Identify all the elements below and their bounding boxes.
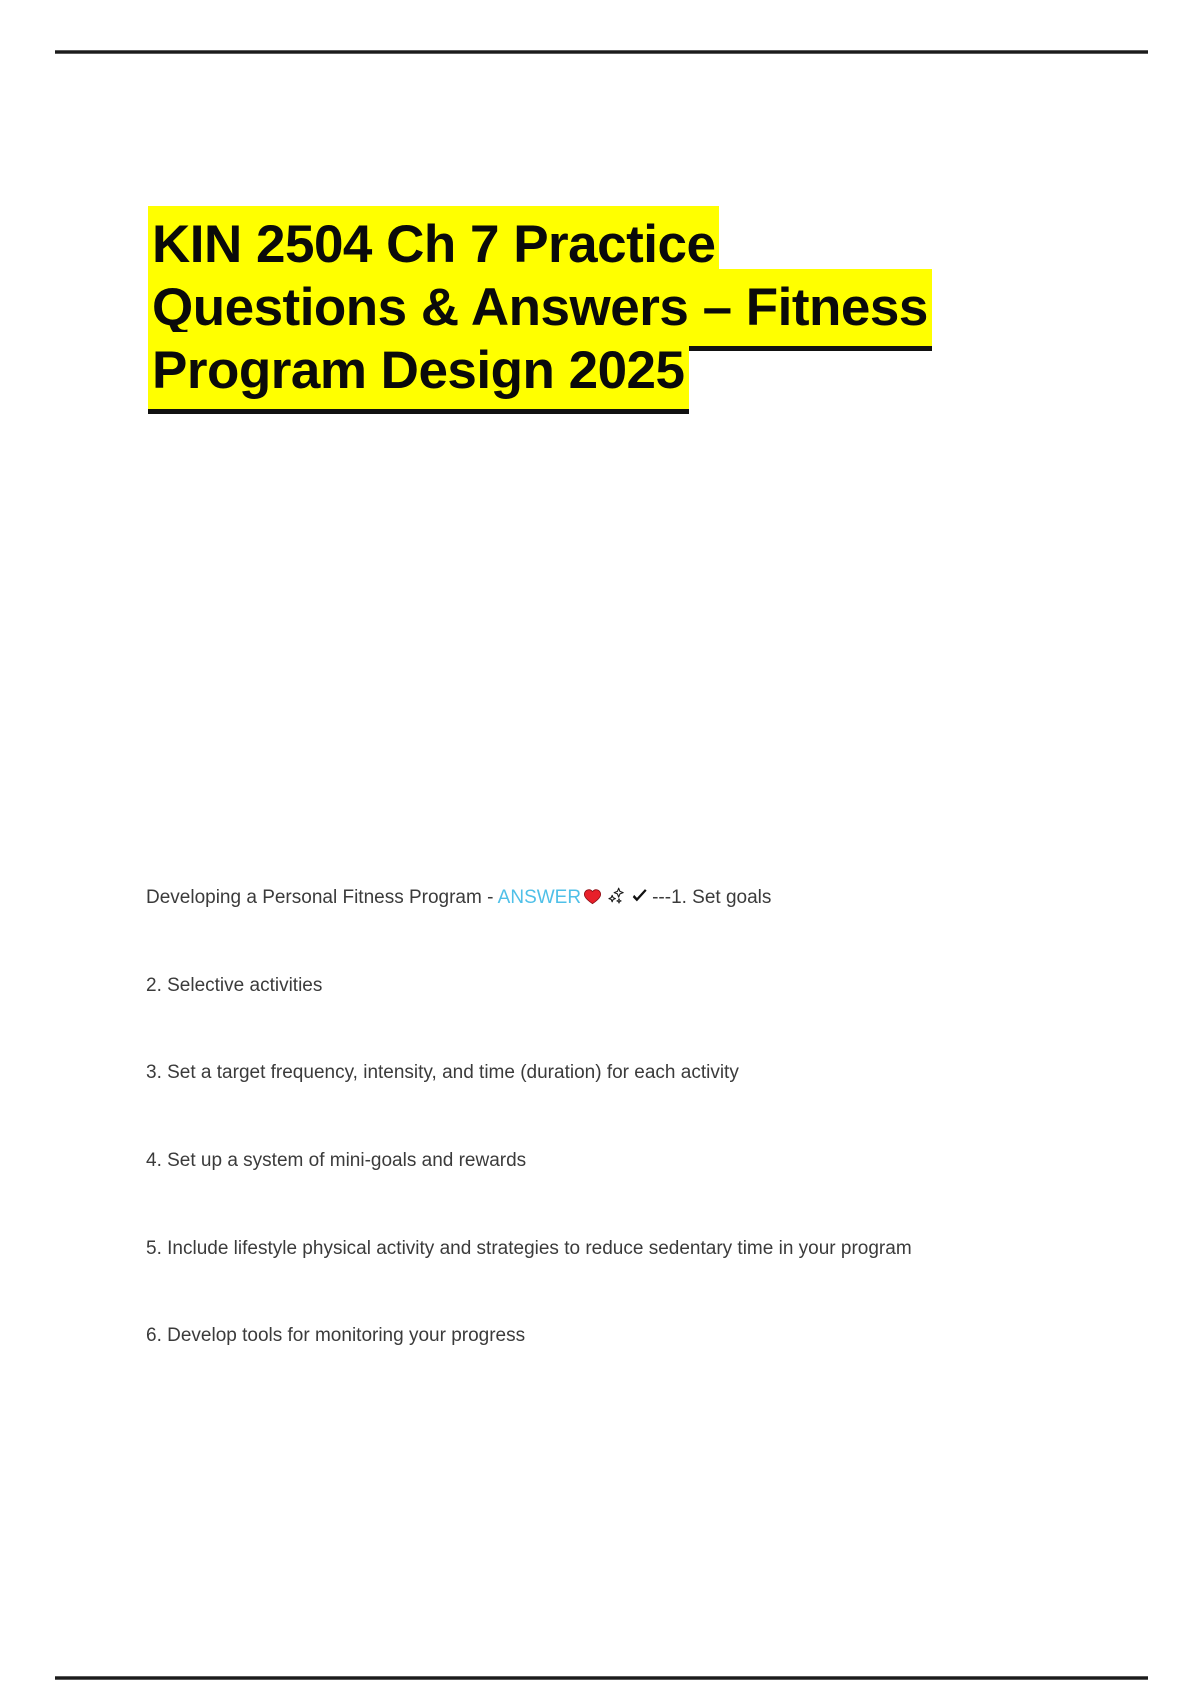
body-line-item-2: 2. Selective activities — [146, 974, 1106, 999]
page-top-rule — [55, 50, 1148, 54]
answer-first-item: 1. Set goals — [671, 887, 771, 908]
title-line-3-text: Program Design 2025 — [148, 332, 689, 414]
document-body: Developing a Personal Fitness Program - … — [146, 886, 1106, 1349]
answer-prompt-text: Developing a Personal Fitness Program - — [146, 887, 498, 908]
body-line-answer: Developing a Personal Fitness Program - … — [146, 886, 1106, 911]
title-line-3: Program Design 2025 — [148, 344, 1048, 397]
red-heart-icon — [583, 887, 602, 906]
document-page: KIN 2504 Ch 7 Practice Questions & Answe… — [0, 0, 1200, 1700]
check-mark-icon — [630, 887, 649, 906]
title-line-2: Questions & Answers – Fitness — [148, 281, 1048, 334]
body-line-item-3: 3. Set a target frequency, intensity, an… — [146, 1061, 1106, 1086]
body-line-item-5: 5. Include lifestyle physical activity a… — [146, 1237, 1106, 1262]
sparkle-icon — [606, 886, 626, 906]
page-bottom-rule — [55, 1676, 1148, 1680]
body-line-item-6: 6. Develop tools for monitoring your pro… — [146, 1324, 1106, 1349]
title-line-1: KIN 2504 Ch 7 Practice — [148, 218, 1048, 271]
body-line-item-4: 4. Set up a system of mini-goals and rew… — [146, 1149, 1106, 1174]
answer-label: ANSWER — [498, 887, 581, 908]
answer-separator: --- — [652, 887, 671, 908]
document-title: KIN 2504 Ch 7 Practice Questions & Answe… — [148, 218, 1048, 407]
